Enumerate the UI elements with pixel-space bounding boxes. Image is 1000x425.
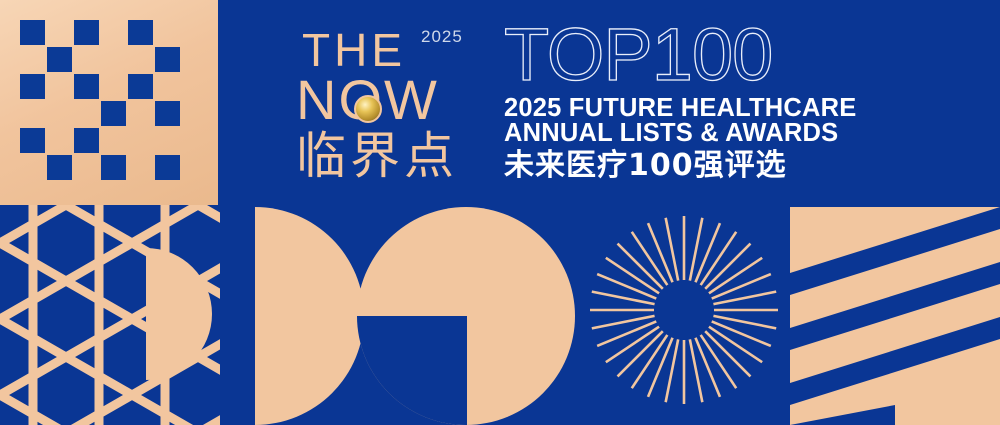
logo-year-superscript: 2025	[421, 28, 463, 45]
checker-cell	[47, 47, 72, 72]
checker-cell	[20, 128, 45, 153]
checker-cell	[74, 74, 99, 99]
checker-cell	[128, 74, 153, 99]
logo-the-text: THE	[302, 27, 406, 73]
checker-cell	[74, 128, 99, 153]
checker-cell	[101, 155, 126, 180]
circle-notch	[357, 316, 467, 425]
logo-chinese-text: 临界点	[296, 130, 458, 182]
checkerboard-block	[0, 0, 218, 205]
subtitle-en-line2: ANNUAL LISTS & AWARDS	[504, 121, 974, 146]
diagonal-stripes-right	[895, 207, 1000, 425]
banner-root: THE 2025 NOW 临界点 TOP100 2025 FUTURE HEAL…	[0, 0, 1000, 425]
subtitle-cn: 未来医疗100强评选	[504, 149, 974, 183]
checker-cell	[101, 101, 126, 126]
checker-cell	[47, 155, 72, 180]
checker-cell	[74, 20, 99, 45]
checker-cell	[128, 20, 153, 45]
checker-cell	[155, 101, 180, 126]
gold-sphere-icon	[354, 95, 382, 123]
checker-cell	[155, 47, 180, 72]
notched-circle	[357, 207, 575, 425]
checker-cell	[20, 74, 45, 99]
diagonal-stripes-left	[790, 207, 895, 425]
sunburst-pattern	[588, 214, 780, 406]
the-now-logo: THE 2025 NOW 临界点	[296, 22, 486, 187]
headline-block: TOP100 2025 FUTURE HEALTHCARE ANNUAL LIS…	[504, 18, 974, 183]
checker-cell	[20, 20, 45, 45]
subtitle-en-line1: 2025 FUTURE HEALTHCARE	[504, 96, 974, 121]
checkerboard-grid	[20, 20, 185, 185]
checker-cell	[155, 155, 180, 180]
half-circle-large	[255, 207, 364, 425]
top100-title: TOP100	[504, 18, 974, 92]
